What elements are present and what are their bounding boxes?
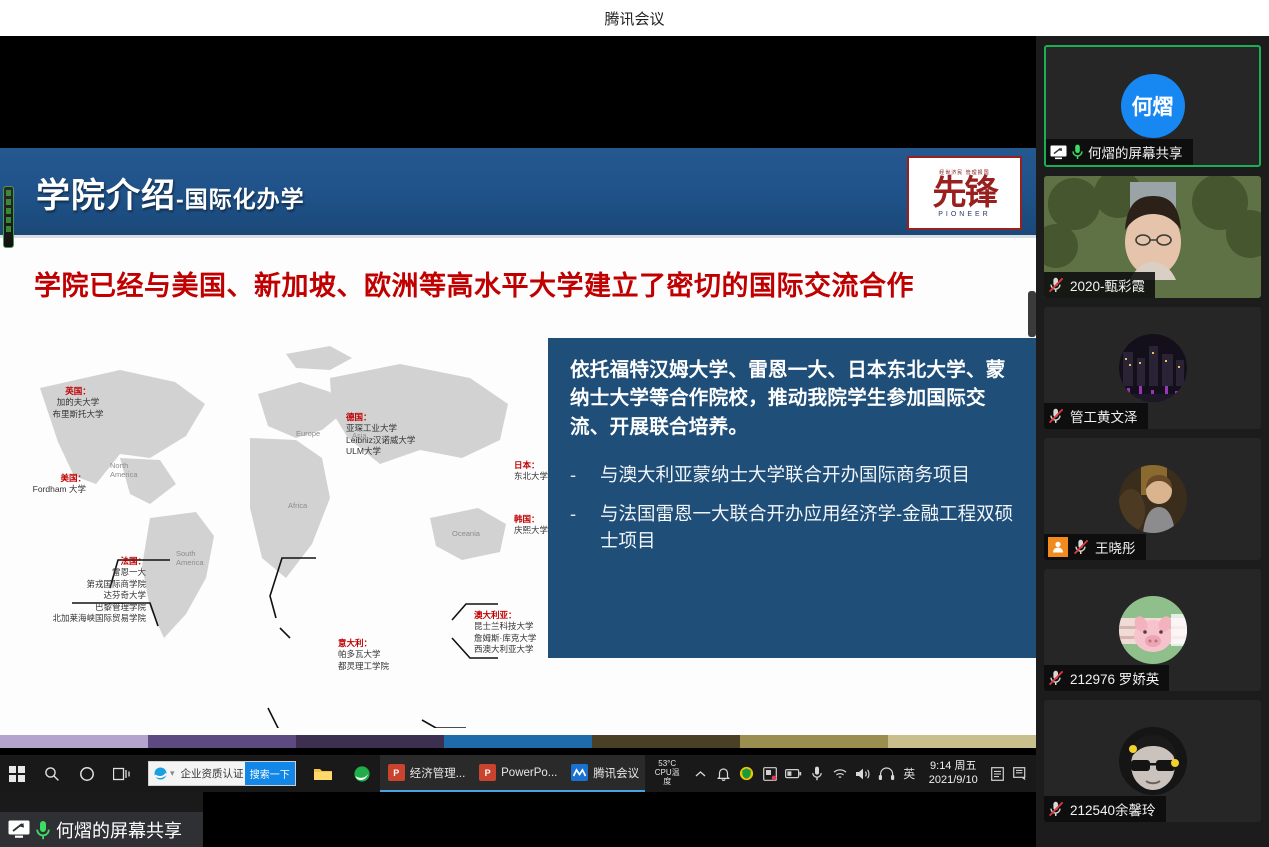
participant-nameplate-2: 管工黄文泽 [1044,403,1148,429]
participant-tile-5[interactable]: 212540余馨玲 [1044,700,1261,822]
presentation-slide: 学院介绍-国际化办学 经世济民 管理报国 先锋 PIONEER 学院已经与美国、… [0,148,1036,748]
map-callout-australia-line-2: 西澳大利亚大学 [474,644,536,655]
world-map: NorthAmerica SouthAmerica Africa Europe … [0,308,548,728]
microphone-icon [1072,144,1083,160]
slide-title-sub: -国际化办学 [176,186,305,212]
taskbar-app-label-0: 经济管理... [410,765,466,781]
participant-tile-0[interactable]: 何熠 何熠的屏幕共享 [1044,45,1261,167]
window-titlebar: 腾讯会议 [0,0,1269,36]
map-callout-france-line-2: 达芬奇大学 [10,590,146,601]
map-callout-australia-title: 澳大利亚： [474,610,536,621]
taskbar-app-label-1: PowerPo... [501,767,557,779]
map-callout-uk-line-0: 加的夫大学 [18,397,138,408]
map-callout-usa-title: 美国： [0,473,86,484]
clock-time: 9:14 周五 [929,760,978,774]
tencent-meeting-window: 腾讯会议 学院介绍-国际化办学 经世济民 管理报国 先锋 PIONEER 学 [0,0,1269,847]
participant-name-4: 212976 罗娇英 [1070,668,1159,688]
screenshot-icon[interactable] [759,755,782,792]
ie-search-caret: ▾ [168,768,177,779]
avatar [1119,334,1187,402]
map-callout-france-line-0: 雷恩一大 [10,567,146,578]
logo-bottom-text: PIONEER [938,211,991,218]
file-explorer-icon[interactable] [306,755,341,792]
world-map-svg: NorthAmerica SouthAmerica Africa Europe … [0,308,548,728]
participant-nameplate-5: 212540余馨玲 [1044,796,1166,822]
slide-header: 学院介绍-国际化办学 经世济民 管理报国 先锋 PIONEER [0,148,1036,238]
bullet-text: 与法国雷恩一大联合开办应用经济学-金融工程双硕士项目 [600,500,1016,556]
slide-decor-bar [3,186,14,248]
map-callout-germany-line-1: Leibniz汉诺威大学 [346,435,415,446]
avatar [1119,596,1187,664]
avatar: 何熠 [1121,74,1185,138]
svg-text:Europe: Europe [296,429,320,438]
participant-nameplate-0: 何熠的屏幕共享 [1046,139,1193,165]
internet-explorer-icon [149,766,168,781]
participant-nameplate-4: 212976 罗娇英 [1044,665,1169,691]
participant-name-3: 王晓彤 [1095,537,1136,557]
notification-icon[interactable] [1009,755,1032,792]
avatar-image-pig [1119,596,1187,664]
windows-start-icon[interactable] [0,755,35,792]
participant-tile-4[interactable]: 212976 罗娇英 [1044,569,1261,691]
svg-text:Africa: Africa [288,501,308,510]
microphone-muted-icon [1048,801,1065,817]
avatar-image-portrait [1119,465,1187,533]
wifi-icon[interactable] [828,755,851,792]
participant-name-0: 何熠的屏幕共享 [1088,142,1183,162]
screen-letterbox-top [0,36,1036,148]
map-callout-france: 法国： 雷恩一大 第戎国际商学院 达芬奇大学 巴黎管理学院 北加莱海峡国际贸易学… [10,556,146,625]
microphone-icon [36,820,50,840]
map-callout-australia-line-1: 詹姆斯·库克大学 [474,633,536,644]
tencent-meeting-icon [571,764,588,781]
person-icon [1052,541,1064,553]
battery-icon[interactable] [782,755,805,792]
screen-share-icon [1050,145,1067,160]
panel-bullet-item: - 与法国雷恩一大联合开办应用经济学-金融工程双硕士项目 [570,500,1016,556]
participant-nameplate-1: 2020-甄彩霞 [1044,272,1155,298]
map-callout-australia: 澳大利亚： 昆士兰科技大学 詹姆斯·库克大学 西澳大利亚大学 [474,610,536,656]
slide-content-panel: 依托福特汉姆大学、雷恩一大、日本东北大学、蒙纳士大学等合作院校，推动我院学生参加… [548,338,1036,658]
ime-indicator[interactable]: 英 [898,755,921,792]
avatar [1119,465,1187,533]
map-callout-italy-line-1: 都灵理工学院 [338,661,389,672]
stage-scroll-handle[interactable] [1028,291,1036,337]
map-callout-uk: 英国： 加的夫大学 布里斯托大学 [18,386,138,420]
pioneer-logo: 经世济民 管理报国 先锋 PIONEER [907,156,1022,230]
participant-nameplate-3: 王晓彤 [1044,534,1146,560]
bullet-text: 与澳大利亚蒙纳士大学联合开办国际商务项目 [600,461,1016,489]
map-callout-uk-title: 英国： [18,386,138,397]
slide-subtitle: 学院已经与美国、新加坡、欧洲等高水平大学建立了密切的国际交流合作 [34,264,914,303]
svg-text:Oceania: Oceania [452,529,481,538]
participant-name-5: 212540余馨玲 [1070,799,1156,819]
svg-text:America: America [110,470,138,479]
map-callout-italy-line-0: 帕多瓦大学 [338,649,389,660]
taskbar-clock[interactable]: 9:14 周五 2021/9/10 [921,760,986,788]
cpu-temp-widget[interactable]: 53°C CPU温度 [645,760,689,786]
map-callout-france-line-4: 北加莱海峡国际贸易学院 [10,613,146,624]
map-callout-germany-line-0: 亚琛工业大学 [346,423,415,434]
participant-rail[interactable]: 何熠 何熠的屏幕共享 [1036,36,1269,847]
bell-icon[interactable] [712,755,735,792]
participant-tile-3[interactable]: 王晓彤 [1044,438,1261,560]
headset-icon[interactable] [874,755,897,792]
logo-main-text: 先锋 [933,176,997,210]
slide-title-main: 学院介绍 [36,177,176,215]
task-view-icon[interactable] [105,755,140,792]
panel-bullet-list: - 与澳大利亚蒙纳士大学联合开办国际商务项目 - 与法国雷恩一大联合开办应用经济… [570,461,1016,555]
map-callout-germany-title: 德国： [346,412,415,423]
map-callout-australia-line-0: 昆士兰科技大学 [474,621,536,632]
microphone-muted-icon [1048,408,1065,424]
window-title: 腾讯会议 [604,8,664,29]
svg-text:North: North [110,461,128,470]
ie-search-button[interactable]: 搜索一下 [245,762,295,785]
map-callout-germany: 德国： 亚琛工业大学 Leibniz汉诺威大学 ULM大学 [346,412,415,458]
map-callout-france-line-1: 第戎国际商学院 [10,579,146,590]
map-callout-italy-title: 意大利： [338,638,389,649]
map-callout-japan-title: 日本： [514,460,548,471]
screen-share-icon [8,820,30,839]
map-callout-italy: 意大利： 帕多瓦大学 都灵理工学院 [338,638,389,672]
ie-search-box[interactable]: ▾ 企业资质认证 搜索一下 [148,761,296,786]
taskbar-app-1[interactable]: P PowerPo... [471,755,563,792]
microphone-icon[interactable] [805,755,828,792]
bullet-dash: - [570,500,600,556]
microphone-muted-icon [1073,539,1090,555]
avatar [1119,727,1187,795]
microphone-muted-icon [1048,670,1065,686]
microphone-muted-icon [1048,277,1065,293]
taskbar-app-2[interactable]: 腾讯会议 [563,755,645,792]
map-callout-usa: 美国： Fordham 大学 [0,473,86,496]
avatar-image-sunglasses [1119,727,1187,795]
host-badge [1048,537,1068,557]
participant-tile-2[interactable]: 管工黄文泽 [1044,307,1261,429]
cortana-circle-icon[interactable] [70,755,105,792]
shield-icon[interactable] [735,755,758,792]
screen-share-status-label: 何熠的屏幕共享 [56,817,182,843]
powerpoint-icon: P [388,764,405,781]
map-callout-japan: 日本： 东北大学 [514,460,548,483]
map-callout-korea: 韩国： 庆熙大学 [514,514,548,537]
svg-text:South: South [176,549,196,558]
clock-date: 2021/9/10 [929,774,978,788]
map-callout-usa-line-0: Fordham 大学 [0,484,86,495]
taskbar-app-0[interactable]: P 经济管理... [380,755,471,792]
panel-heading: 依托福特汉姆大学、雷恩一大、日本东北大学、蒙纳士大学等合作院校，推动我院学生参加… [570,356,1016,441]
map-callout-germany-line-2: ULM大学 [346,446,415,457]
participant-tile-1[interactable]: 2020-甄彩霞 [1044,176,1261,298]
panel-bullet-item: - 与澳大利亚蒙纳士大学联合开办国际商务项目 [570,461,1016,489]
windows-taskbar[interactable]: ▾ 企业资质认证 搜索一下 P 经济管理... P PowerPo... 腾讯会… [0,755,1036,792]
screen-share-status-overlay[interactable]: 何熠的屏幕共享 [0,812,203,847]
slide-color-strip [0,735,1036,748]
map-callout-japan-line-0: 东北大学 [514,471,548,482]
bullet-dash: - [570,461,600,489]
svg-text:America: America [176,558,204,567]
map-callout-france-line-3: 巴黎管理学院 [10,602,146,613]
slide-title: 学院介绍-国际化办学 [36,168,305,217]
ie-search-query[interactable]: 企业资质认证 [176,766,244,781]
desktop-background [203,792,1036,847]
map-callout-korea-line-0: 庆熙大学 [514,525,548,536]
system-tray[interactable]: 53°C CPU温度 [645,755,1036,792]
participant-name-2: 管工黄文泽 [1070,406,1138,426]
map-callout-uk-line-1: 布里斯托大学 [18,409,138,420]
cpu-temp-label: CPU温度 [651,769,683,787]
avatar-image-city [1119,334,1187,402]
volume-icon[interactable] [851,755,874,792]
chevron-up-icon[interactable] [689,755,712,792]
map-callout-korea-title: 韩国： [514,514,548,525]
shared-screen-stage[interactable]: 学院介绍-国际化办学 经世济民 管理报国 先锋 PIONEER 学院已经与美国、… [0,36,1036,755]
participant-name-1: 2020-甄彩霞 [1070,275,1145,295]
powerpoint-icon: P [479,764,496,781]
notes-icon[interactable] [986,755,1009,792]
edge-browser-icon[interactable] [345,755,380,792]
map-callout-france-title: 法国： [10,556,146,567]
search-icon[interactable] [35,755,70,792]
taskbar-app-label-2: 腾讯会议 [593,765,639,781]
